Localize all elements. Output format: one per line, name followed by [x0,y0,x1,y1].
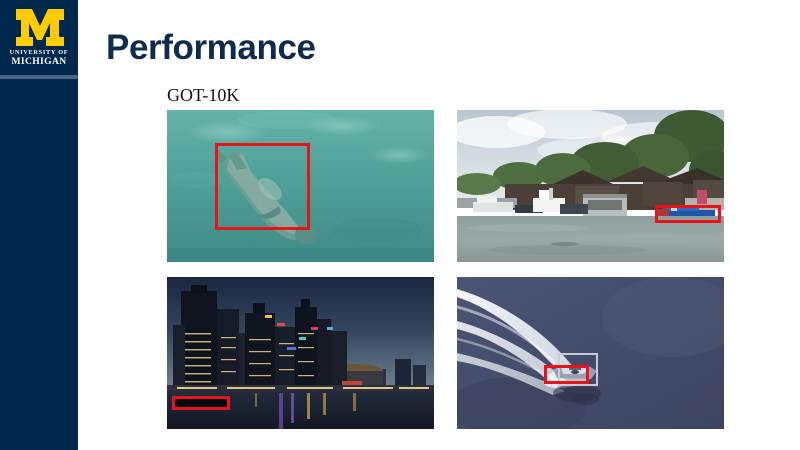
michigan-m-icon [14,7,66,48]
speedboat-aerial-image [457,277,724,429]
page-title: Performance [106,28,316,68]
thumb-marina-boats[interactable] [457,110,724,262]
sidebar-divider [0,75,78,79]
marina-boats-image [457,110,724,262]
brand-sidebar: UNIVERSITY OF MICHIGAN [0,0,78,450]
wordmark-line-2: MICHIGAN [0,57,78,67]
university-logo: UNIVERSITY OF MICHIGAN [0,0,78,76]
city-skyline-dusk-image [167,277,434,429]
thumb-city-skyline-dusk[interactable] [167,277,434,429]
dugong-underwater-image [167,110,434,262]
results-gallery [167,110,724,430]
university-wordmark: UNIVERSITY OF MICHIGAN [0,50,78,67]
thumb-dugong-underwater[interactable] [167,110,434,262]
dataset-label: GOT-10K [167,85,239,106]
thumb-speedboat-aerial[interactable] [457,277,724,429]
